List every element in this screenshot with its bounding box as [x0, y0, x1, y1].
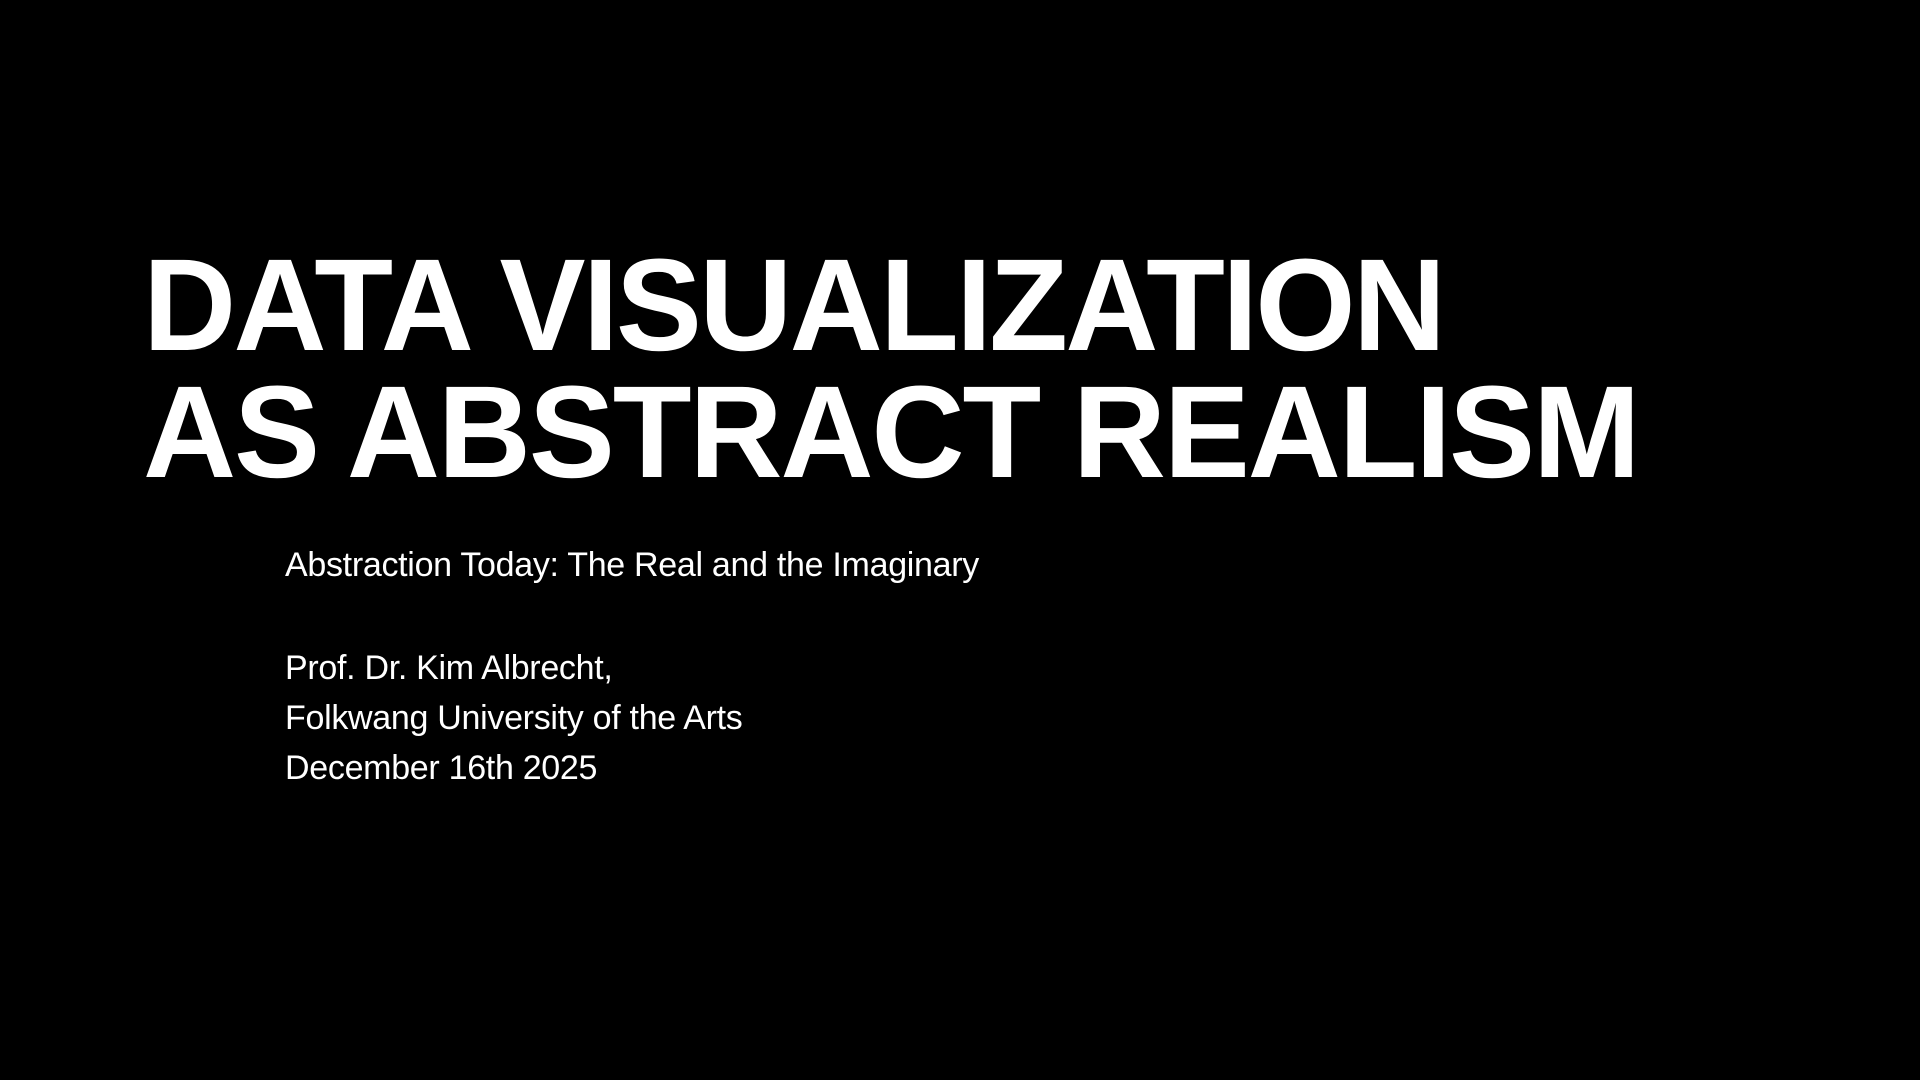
slide-subtitle: Abstraction Today: The Real and the Imag… — [285, 545, 979, 585]
title-line-2: AS ABSTRACT REALISM — [143, 372, 1818, 493]
presenter-name: Prof. Dr. Kim Albrecht, — [285, 643, 742, 693]
presentation-date: December 16th 2025 — [285, 743, 742, 793]
presenter-affiliation: Folkwang University of the Arts — [285, 693, 742, 743]
credits-block: Prof. Dr. Kim Albrecht, Folkwang Univers… — [285, 643, 742, 793]
page-title: DATA VISUALIZATION AS ABSTRACT REALISM — [143, 245, 1843, 492]
title-slide: DATA VISUALIZATION AS ABSTRACT REALISM A… — [0, 0, 1920, 1080]
title-line-1: DATA VISUALIZATION — [143, 245, 1818, 366]
